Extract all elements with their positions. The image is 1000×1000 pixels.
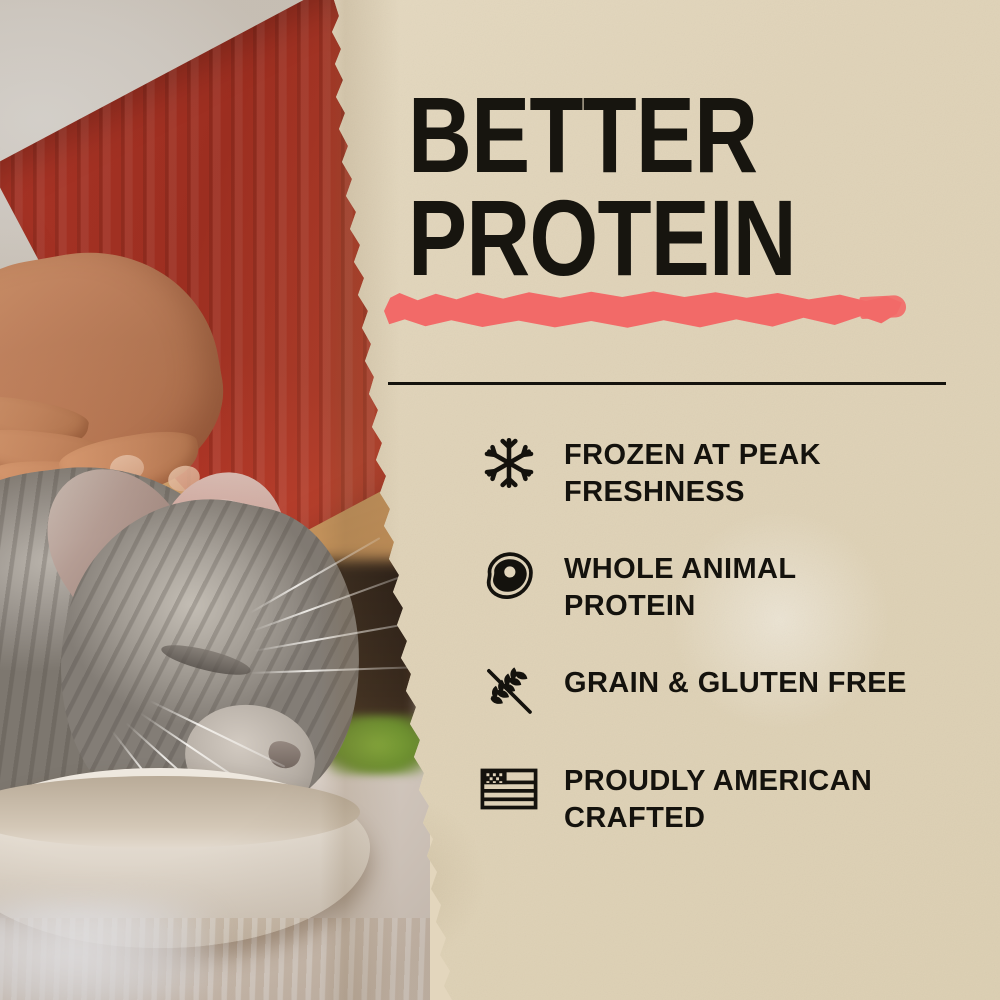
brush-stroke-tail	[859, 295, 906, 319]
wheat-crossed-out-icon	[478, 660, 540, 722]
page-title: BETTER PROTEIN	[408, 84, 867, 289]
american-flag-icon	[478, 758, 540, 820]
snowflake-icon	[478, 432, 540, 494]
feature-list: FROZEN AT PEAK FRESHNESS WHOLE ANIMAL PR…	[478, 432, 978, 836]
list-item: GRAIN & GLUTEN FREE	[478, 660, 978, 722]
list-item: WHOLE ANIMAL PROTEIN	[478, 546, 978, 624]
poster-content: BETTER PROTEIN	[0, 0, 1000, 1000]
list-item-label: FROZEN AT PEAK FRESHNESS	[564, 432, 924, 510]
headline-line-2: PROTEIN	[408, 187, 867, 290]
list-item: PROUDLY AMERICAN CRAFTED	[478, 758, 978, 836]
horizontal-rule	[388, 382, 946, 385]
list-item: FROZEN AT PEAK FRESHNESS	[478, 432, 978, 510]
list-item-label: GRAIN & GLUTEN FREE	[564, 660, 907, 702]
list-item-label: WHOLE ANIMAL PROTEIN	[564, 546, 924, 624]
poster: BETTER PROTEIN	[0, 0, 1000, 1000]
meat-cut-icon	[478, 546, 540, 608]
list-item-label: PROUDLY AMERICAN CRAFTED	[564, 758, 924, 836]
